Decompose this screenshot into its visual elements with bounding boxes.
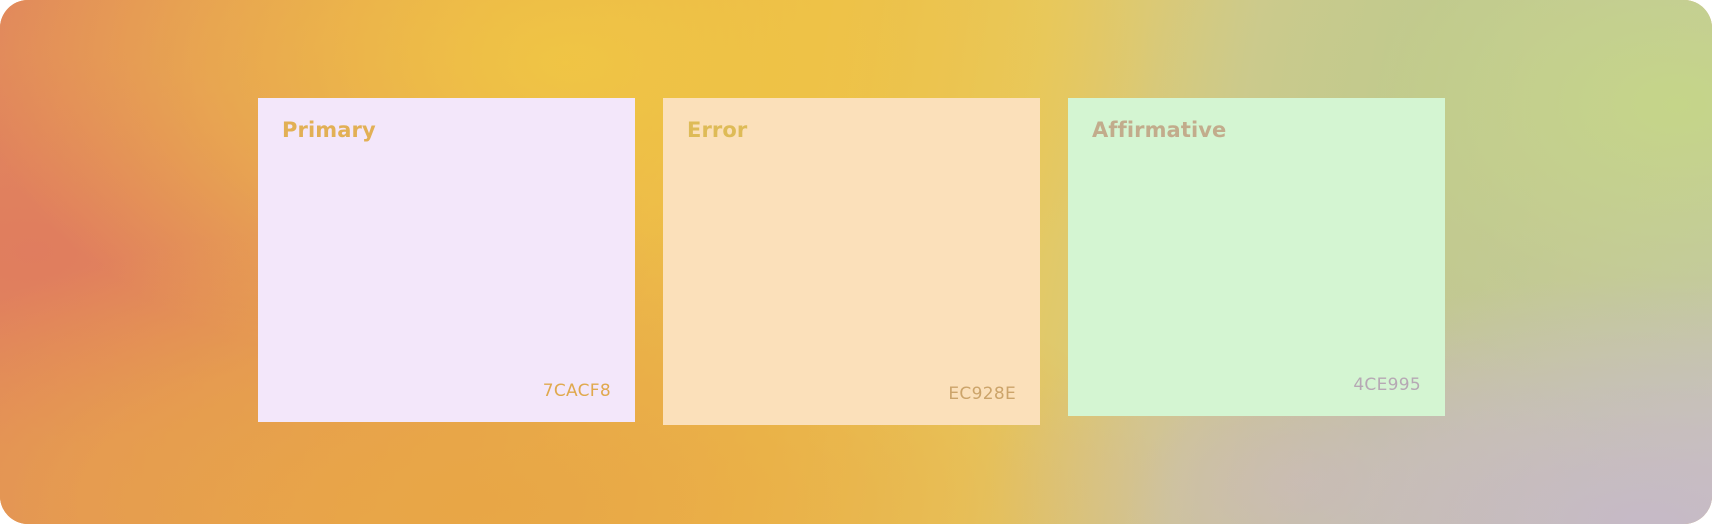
color-palette-window: Primary 7CACF8 Error EC928E Affirmative … [0, 0, 1712, 524]
swatch-hex-affirmative: 4CE995 [1092, 377, 1421, 394]
swatch-title-error: Error [687, 120, 1016, 141]
color-swatch-row: Primary 7CACF8 Error EC928E Affirmative … [258, 98, 1445, 425]
color-swatch-card-affirmative[interactable]: Affirmative 4CE995 [1068, 98, 1445, 416]
swatch-title-primary: Primary [282, 120, 611, 141]
swatch-hex-error: EC928E [687, 386, 1016, 403]
color-swatch-card-primary[interactable]: Primary 7CACF8 [258, 98, 635, 422]
swatch-hex-primary: 7CACF8 [282, 383, 611, 400]
color-swatch-card-error[interactable]: Error EC928E [663, 98, 1040, 425]
swatch-title-affirmative: Affirmative [1092, 120, 1421, 141]
